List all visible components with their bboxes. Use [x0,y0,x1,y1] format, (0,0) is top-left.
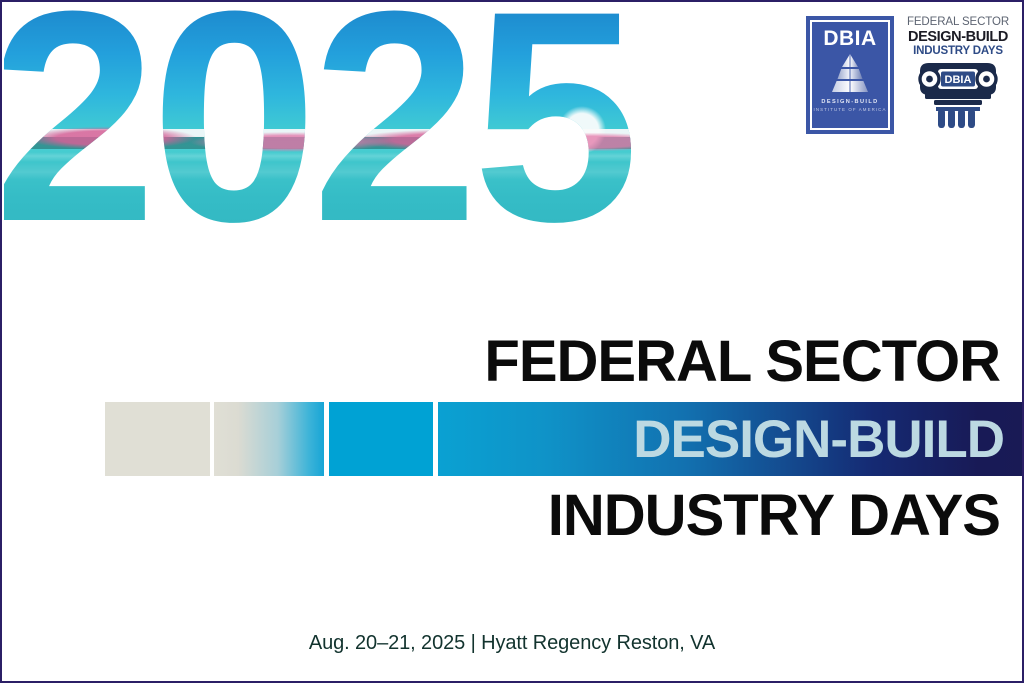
color-bar-blue-to-navy: DESIGN-BUILD [438,402,1024,476]
headline-design-build: DESIGN-BUILD [633,413,1004,466]
pyramid-icon [828,52,872,96]
headline-federal-sector: FEDERAL SECTOR [484,333,1000,391]
poster-canvas: 2025 DBIA [0,0,1024,683]
color-bar-beige-to-blue [214,402,324,476]
color-bar-row: DESIGN-BUILD [105,402,1024,476]
logo-row: DBIA [806,16,1008,134]
fs-logo-line2: DESIGN-BUILD [908,29,1008,45]
year-hero-image: 2025 [4,4,664,252]
color-bar-beige [105,402,210,476]
headline-industry-days: INDUSTRY DAYS [548,487,1000,545]
dbia-tagline-2: INSTITUTE OF AMERICA [814,107,887,112]
color-bar-cyan [329,402,433,476]
federal-sector-logo[interactable]: FEDERAL SECTOR DESIGN-BUILD INDUSTRY DAY… [908,16,1008,129]
dbia-logo-inner: DBIA [810,20,890,130]
fs-logo-line1: FEDERAL SECTOR [907,16,1009,29]
dbia-logo[interactable]: DBIA [806,16,894,134]
event-details-footer: Aug. 20–21, 2025 | Hyatt Regency Reston,… [2,632,1022,655]
column-dbia-label: DBIA [945,74,972,86]
dbia-wordmark: DBIA [823,28,876,49]
fs-logo-line3: INDUSTRY DAYS [913,45,1003,58]
ionic-column-icon: DBIA [910,61,1006,129]
year-text: 2025 [4,4,664,252]
dbia-tagline-1: DESIGN-BUILD [821,99,878,105]
